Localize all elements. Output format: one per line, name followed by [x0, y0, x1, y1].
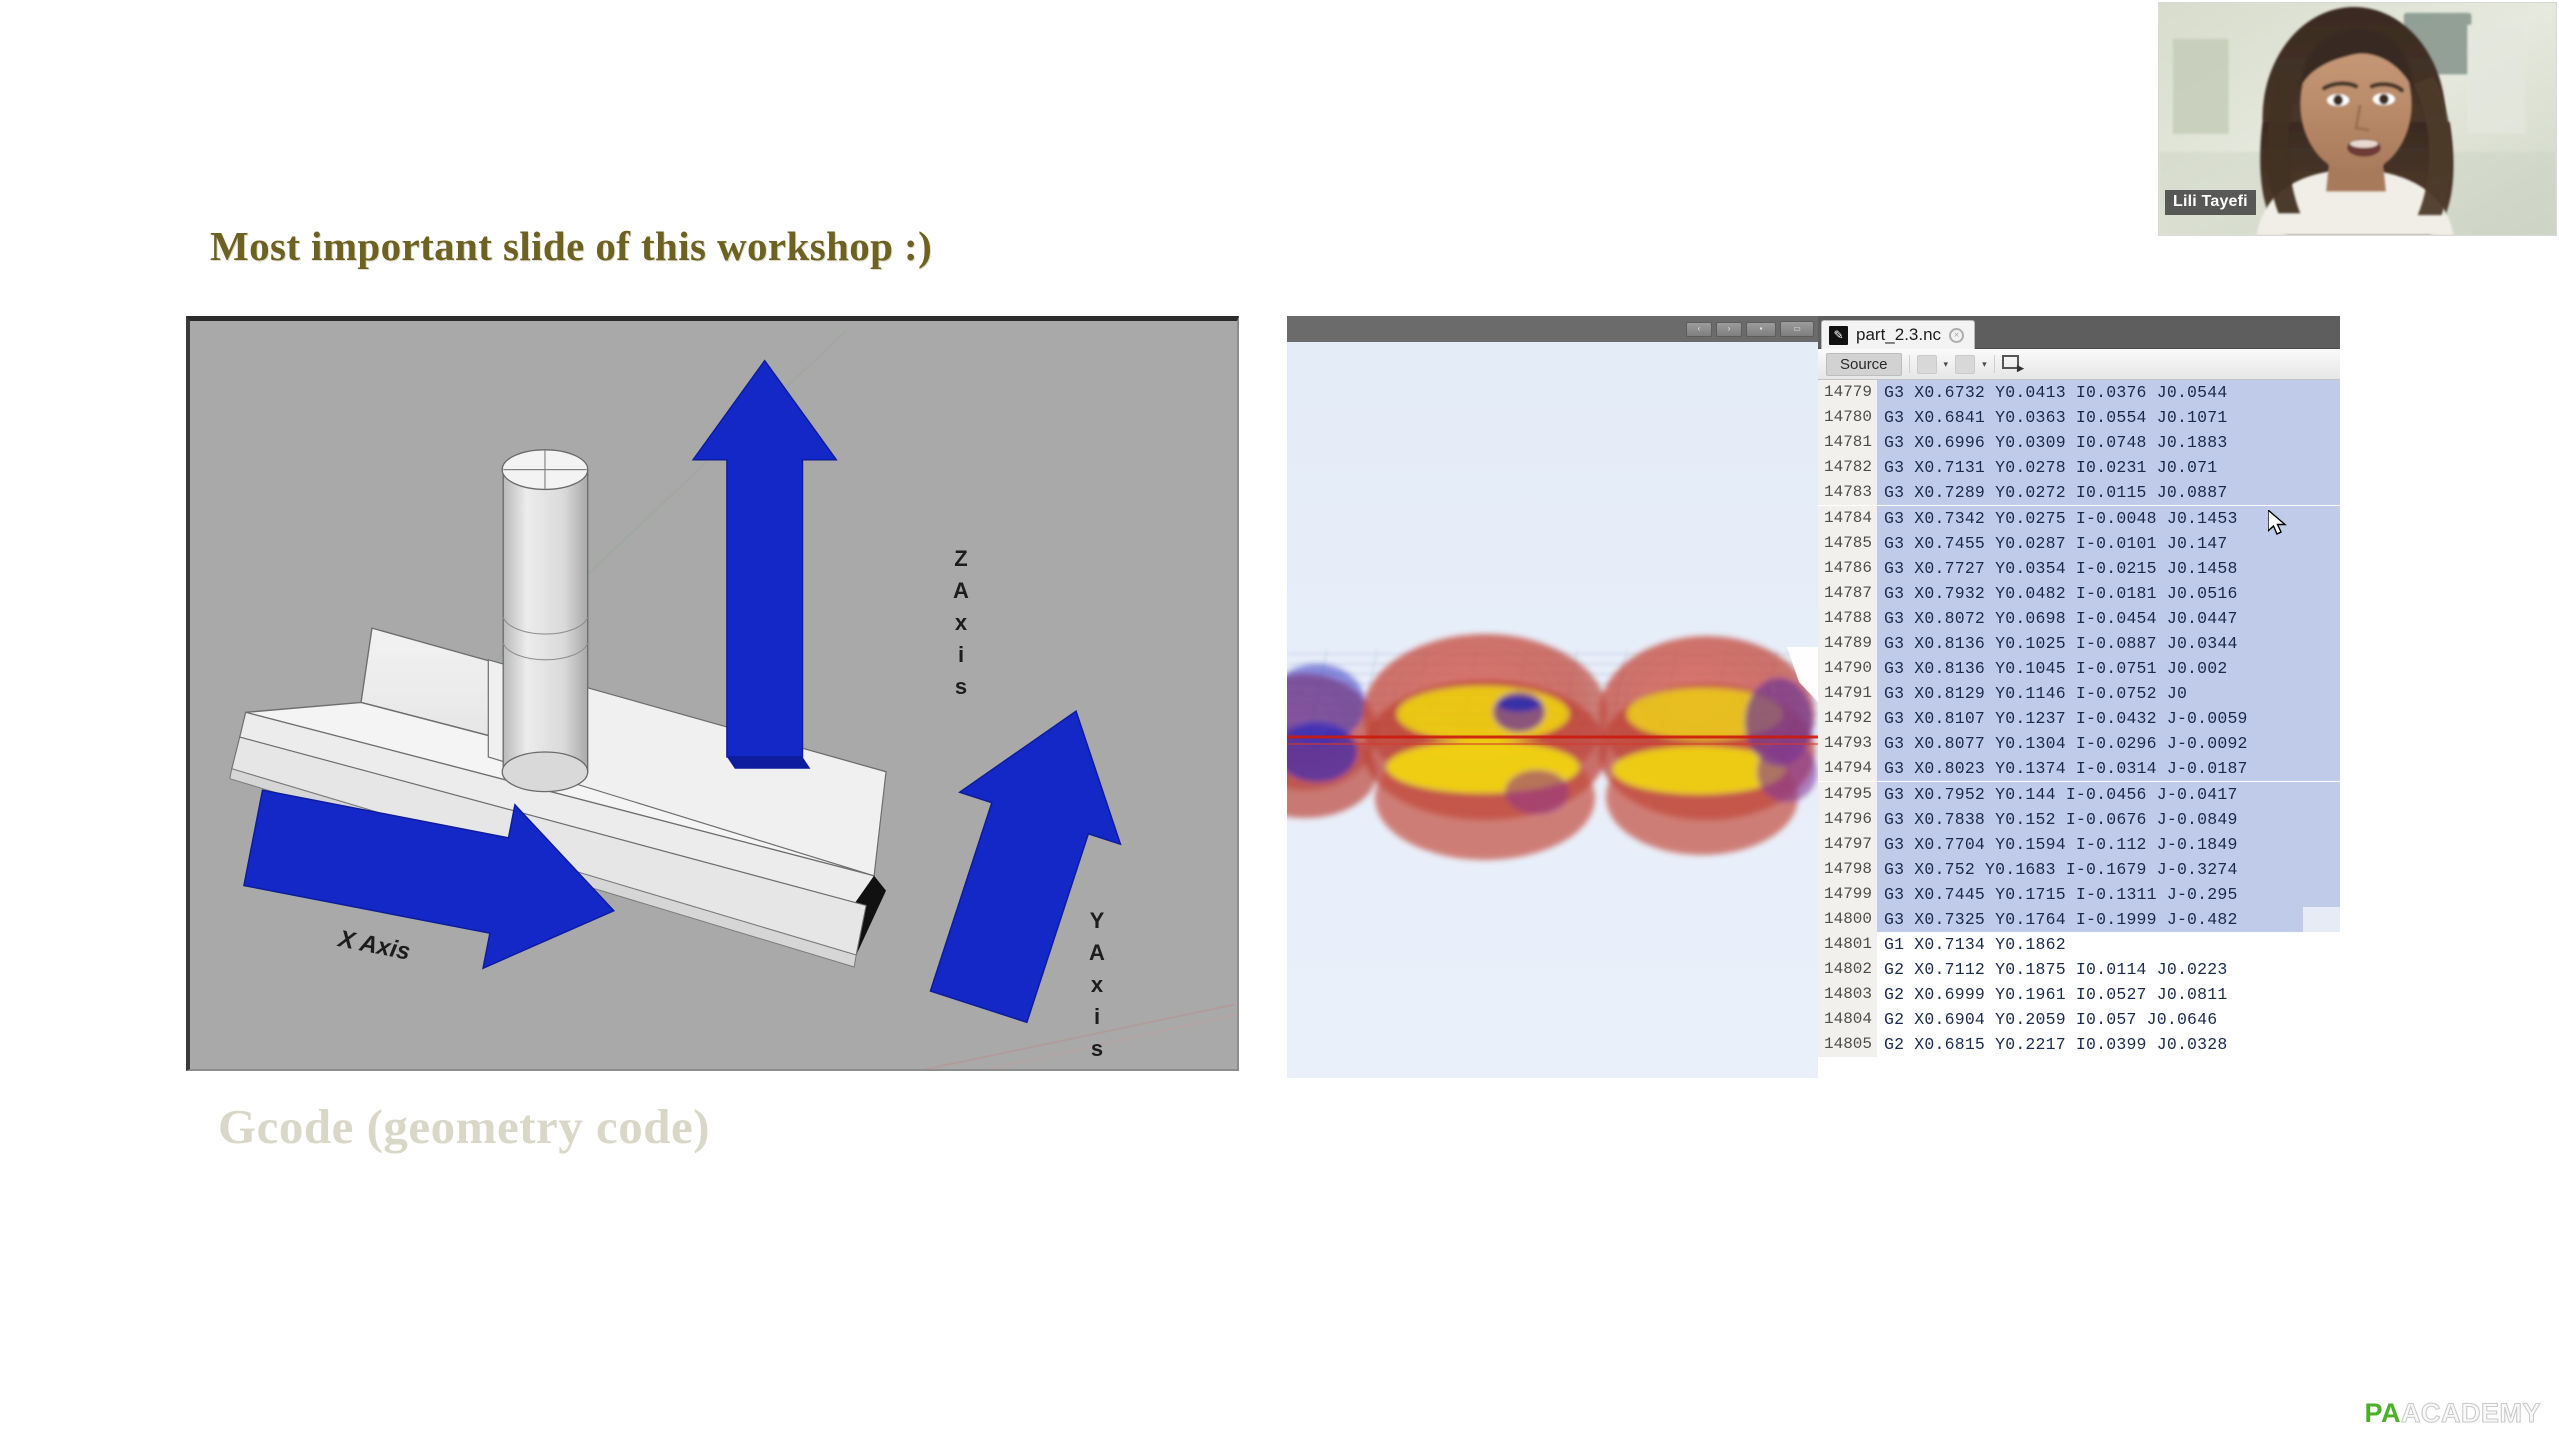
gcode-line-source: G3 X0.6841 Y0.0363 I0.0554 J0.1071	[1877, 405, 2340, 430]
gcode-line-number: 14784	[1818, 506, 1877, 531]
watermark-word: ACADEMY	[2401, 1398, 2541, 1429]
toolbar-separator-2	[1994, 355, 1995, 373]
gcode-line-number: 14786	[1818, 556, 1877, 581]
axes-diagram-svg	[190, 321, 1237, 1069]
gcode-line[interactable]: 14803G2 X0.6999 Y0.1961 I0.0527 J0.0811	[1818, 982, 2340, 1007]
cam-application-window: ‹ › ▪ ▭	[1287, 316, 2340, 1078]
participant-name-label: Lili Tayefi	[2165, 190, 2256, 215]
titlebar-prev-button[interactable]: ‹	[1686, 322, 1712, 337]
z-axis-arrow	[693, 361, 836, 769]
gcode-line[interactable]: 14779G3 X0.6732 Y0.0413 I0.0376 J0.0544	[1818, 380, 2340, 405]
new-window-icon[interactable]: ▸	[2002, 355, 2024, 373]
page-title: Most important slide of this workshop :)	[210, 222, 932, 270]
gcode-line-number: 14789	[1818, 631, 1877, 656]
gcode-line-number: 14794	[1818, 756, 1877, 781]
titlebar-restore-button[interactable]: ▭	[1780, 321, 1814, 337]
gcode-line-number: 14780	[1818, 405, 1877, 430]
gcode-line-number: 14797	[1818, 832, 1877, 857]
gcode-line[interactable]: 14800G3 X0.7325 Y0.1764 I-0.1999 J-0.482	[1818, 907, 2340, 932]
gcode-line[interactable]: 14799G3 X0.7445 Y0.1715 I-0.1311 J-0.295	[1818, 882, 2340, 907]
gcode-line-source: G3 X0.7325 Y0.1764 I-0.1999 J-0.482	[1877, 907, 2340, 932]
pencil-icon: ✎	[1829, 326, 1848, 345]
gcode-line[interactable]: 14793G3 X0.8077 Y0.1304 I-0.0296 J-0.009…	[1818, 731, 2340, 756]
gcode-line-number: 14803	[1818, 982, 1877, 1007]
gcode-line-number: 14787	[1818, 581, 1877, 606]
y-axis-label: YAxis	[1084, 905, 1110, 1064]
gcode-line-source: G3 X0.7727 Y0.0354 I-0.0215 J0.1458	[1877, 556, 2340, 581]
gcode-line-number: 14799	[1818, 882, 1877, 907]
gcode-line-source: G3 X0.7289 Y0.0272 I0.0115 J0.0887	[1877, 480, 2340, 505]
gcode-line-number: 14792	[1818, 706, 1877, 731]
gcode-line[interactable]: 14792G3 X0.8107 Y0.1237 I-0.0432 J-0.005…	[1818, 706, 2340, 731]
gcode-line[interactable]: 14794G3 X0.8023 Y0.1374 I-0.0314 J-0.018…	[1818, 756, 2340, 781]
gcode-line-source: G2 X0.6815 Y0.2217 I0.0399 J0.0328	[1877, 1032, 2340, 1057]
gcode-line[interactable]: 14790G3 X0.8136 Y0.1045 I-0.0751 J0.002	[1818, 656, 2340, 681]
gcode-line[interactable]: 14786G3 X0.7727 Y0.0354 I-0.0215 J0.1458	[1818, 556, 2340, 581]
gcode-line-source: G3 X0.7342 Y0.0275 I-0.0048 J0.1453	[1877, 506, 2340, 531]
gcode-line-number: 14779	[1818, 380, 1877, 405]
gcode-line-number: 14798	[1818, 857, 1877, 882]
gcode-line[interactable]: 14797G3 X0.7704 Y0.1594 I-0.112 J-0.1849	[1818, 832, 2340, 857]
watermark-mark: PA	[2364, 1398, 2401, 1429]
gcode-line[interactable]: 14804G2 X0.6904 Y0.2059 I0.057 J0.0646	[1818, 1007, 2340, 1032]
gcode-line-source: G1 X0.7134 Y0.1862	[1877, 932, 2340, 957]
chevron-down-icon[interactable]: ▾	[1944, 359, 1949, 370]
titlebar-stop-button[interactable]: ▪	[1746, 322, 1776, 337]
slide-caption: Gcode (geometry code)	[218, 1098, 710, 1155]
gcode-line-source: G3 X0.8129 Y0.1146 I-0.0752 J0	[1877, 681, 2340, 706]
titlebar-next-button[interactable]: ›	[1716, 322, 1742, 337]
tab-part-2-3-nc[interactable]: ✎ part_2.3.nc ×	[1821, 320, 1975, 349]
gcode-line-source: G2 X0.7112 Y0.1875 I0.0114 J0.0223	[1877, 957, 2340, 982]
gcode-line-source: G3 X0.7131 Y0.0278 I0.0231 J0.071	[1877, 455, 2340, 480]
gcode-line[interactable]: 14785G3 X0.7455 Y0.0287 I-0.0101 J0.147	[1818, 531, 2340, 556]
gcode-line-source: G3 X0.7445 Y0.1715 I-0.1311 J-0.295	[1877, 882, 2340, 907]
gcode-line-number: 14802	[1818, 957, 1877, 982]
gcode-line-number: 14793	[1818, 731, 1877, 756]
gcode-line[interactable]: 14789G3 X0.8136 Y0.1025 I-0.0887 J0.0344	[1818, 631, 2340, 656]
tab-label: part_2.3.nc	[1856, 325, 1941, 345]
gcode-line-number: 14782	[1818, 455, 1877, 480]
gcode-line-number: 14804	[1818, 1007, 1877, 1032]
cam-titlebar: ‹ › ▪ ▭	[1287, 316, 1818, 342]
gcode-line-source: G3 X0.7952 Y0.144 I-0.0456 J-0.0417	[1877, 782, 2340, 807]
gcode-editor-panel: ✎ part_2.3.nc × Source ▾ ▾ ▸ 14779G3 X0.…	[1818, 316, 2340, 1058]
gcode-line[interactable]: 14791G3 X0.8129 Y0.1146 I-0.0752 J0	[1818, 681, 2340, 706]
gcode-line-source: G2 X0.6904 Y0.2059 I0.057 J0.0646	[1877, 1007, 2340, 1032]
gcode-line-source: G3 X0.7455 Y0.0287 I-0.0101 J0.147	[1877, 531, 2340, 556]
gcode-line-source: G3 X0.8077 Y0.1304 I-0.0296 J-0.0092	[1877, 731, 2340, 756]
gcode-line-source: G3 X0.8072 Y0.0698 I-0.0454 J0.0447	[1877, 606, 2340, 631]
gcode-line-number: 14796	[1818, 807, 1877, 832]
gcode-line-number: 14790	[1818, 656, 1877, 681]
chevron-down-icon-2[interactable]: ▾	[1982, 359, 1987, 370]
gcode-line-number: 14781	[1818, 430, 1877, 455]
gcode-line[interactable]: 14802G2 X0.7112 Y0.1875 I0.0114 J0.0223	[1818, 957, 2340, 982]
webcam-pip[interactable]: Lili Tayefi	[2158, 2, 2557, 236]
gcode-line[interactable]: 14801G1 X0.7134 Y0.1862	[1818, 932, 2340, 957]
gcode-line[interactable]: 14796G3 X0.7838 Y0.152 I-0.0676 J-0.0849	[1818, 807, 2340, 832]
z-axis-label: ZAxis	[948, 543, 974, 702]
gcode-line[interactable]: 14781G3 X0.6996 Y0.0309 I0.0748 J0.1883	[1818, 430, 2340, 455]
gcode-line[interactable]: 14780G3 X0.6841 Y0.0363 I0.0554 J0.1071	[1818, 405, 2340, 430]
toolpath-3d-viewport[interactable]	[1287, 342, 1818, 1078]
gcode-listing[interactable]: 14779G3 X0.6732 Y0.0413 I0.0376 J0.05441…	[1818, 380, 2340, 1058]
close-icon[interactable]: ×	[1949, 328, 1964, 343]
y-axis-arrow	[898, 685, 1155, 1033]
gcode-line-source: G3 X0.6996 Y0.0309 I0.0748 J0.1883	[1877, 430, 2340, 455]
gcode-line-number: 14783	[1818, 480, 1877, 505]
gcode-line-number: 14805	[1818, 1032, 1877, 1057]
slide-canvas: Most important slide of this workshop :)	[0, 0, 2559, 1439]
gcode-line[interactable]: 14798G3 X0.752 Y0.1683 I-0.1679 J-0.3274	[1818, 857, 2340, 882]
pa-academy-watermark: PA ACADEMY	[2364, 1398, 2541, 1429]
cylindrical-tool	[502, 450, 588, 792]
gcode-line-number: 14795	[1818, 782, 1877, 807]
gcode-line-source: G2 X0.6999 Y0.1961 I0.0527 J0.0811	[1877, 982, 2340, 1007]
gcode-line-source: G3 X0.752 Y0.1683 I-0.1679 J-0.3274	[1877, 857, 2340, 882]
gcode-line-source: G3 X0.8136 Y0.1025 I-0.0887 J0.0344	[1877, 631, 2340, 656]
gcode-line-number: 14801	[1818, 932, 1877, 957]
toolbar-separator	[1909, 355, 1910, 373]
gcode-line-source: G3 X0.8136 Y0.1045 I-0.0751 J0.002	[1877, 656, 2340, 681]
gcode-line[interactable]: 14795G3 X0.7952 Y0.144 I-0.0456 J-0.0417	[1818, 782, 2340, 807]
gcode-line-source: G3 X0.7704 Y0.1594 I-0.112 J-0.1849	[1877, 832, 2340, 857]
gcode-line[interactable]: 14787G3 X0.7932 Y0.0482 I-0.0181 J0.0516	[1818, 581, 2340, 606]
gcode-line-source: G3 X0.8107 Y0.1237 I-0.0432 J-0.0059	[1877, 706, 2340, 731]
gcode-line-number: 14788	[1818, 606, 1877, 631]
gcode-line-source: G3 X0.7838 Y0.152 I-0.0676 J-0.0849	[1877, 807, 2340, 832]
run-icon[interactable]	[1917, 355, 1937, 374]
toolpath-render	[1287, 342, 1818, 1078]
gcode-line-source: G3 X0.8023 Y0.1374 I-0.0314 J-0.0187	[1877, 756, 2340, 781]
gcode-line[interactable]: 14782G3 X0.7131 Y0.0278 I0.0231 J0.071	[1818, 455, 2340, 480]
editor-toolbar: Source ▾ ▾ ▸	[1818, 349, 2340, 380]
gcode-line-source: G3 X0.6732 Y0.0413 I0.0376 J0.0544	[1877, 380, 2340, 405]
gcode-line-number: 14800	[1818, 907, 1877, 932]
gcode-line-number: 14785	[1818, 531, 1877, 556]
editor-tabstrip: ✎ part_2.3.nc ×	[1818, 316, 2340, 349]
cnc-axes-diagram: X Axis ZAxis YAxis	[186, 316, 1239, 1071]
gcode-line-source: G3 X0.7932 Y0.0482 I-0.0181 J0.0516	[1877, 581, 2340, 606]
debug-icon[interactable]	[1955, 355, 1975, 374]
source-button[interactable]: Source	[1826, 353, 1902, 376]
gcode-line[interactable]: 14805G2 X0.6815 Y0.2217 I0.0399 J0.0328	[1818, 1032, 2340, 1057]
gcode-line[interactable]: 14784G3 X0.7342 Y0.0275 I-0.0048 J0.1453	[1818, 505, 2340, 530]
gcode-line-number: 14791	[1818, 681, 1877, 706]
gcode-line[interactable]: 14783G3 X0.7289 Y0.0272 I0.0115 J0.0887	[1818, 480, 2340, 505]
gcode-line[interactable]: 14788G3 X0.8072 Y0.0698 I-0.0454 J0.0447	[1818, 606, 2340, 631]
